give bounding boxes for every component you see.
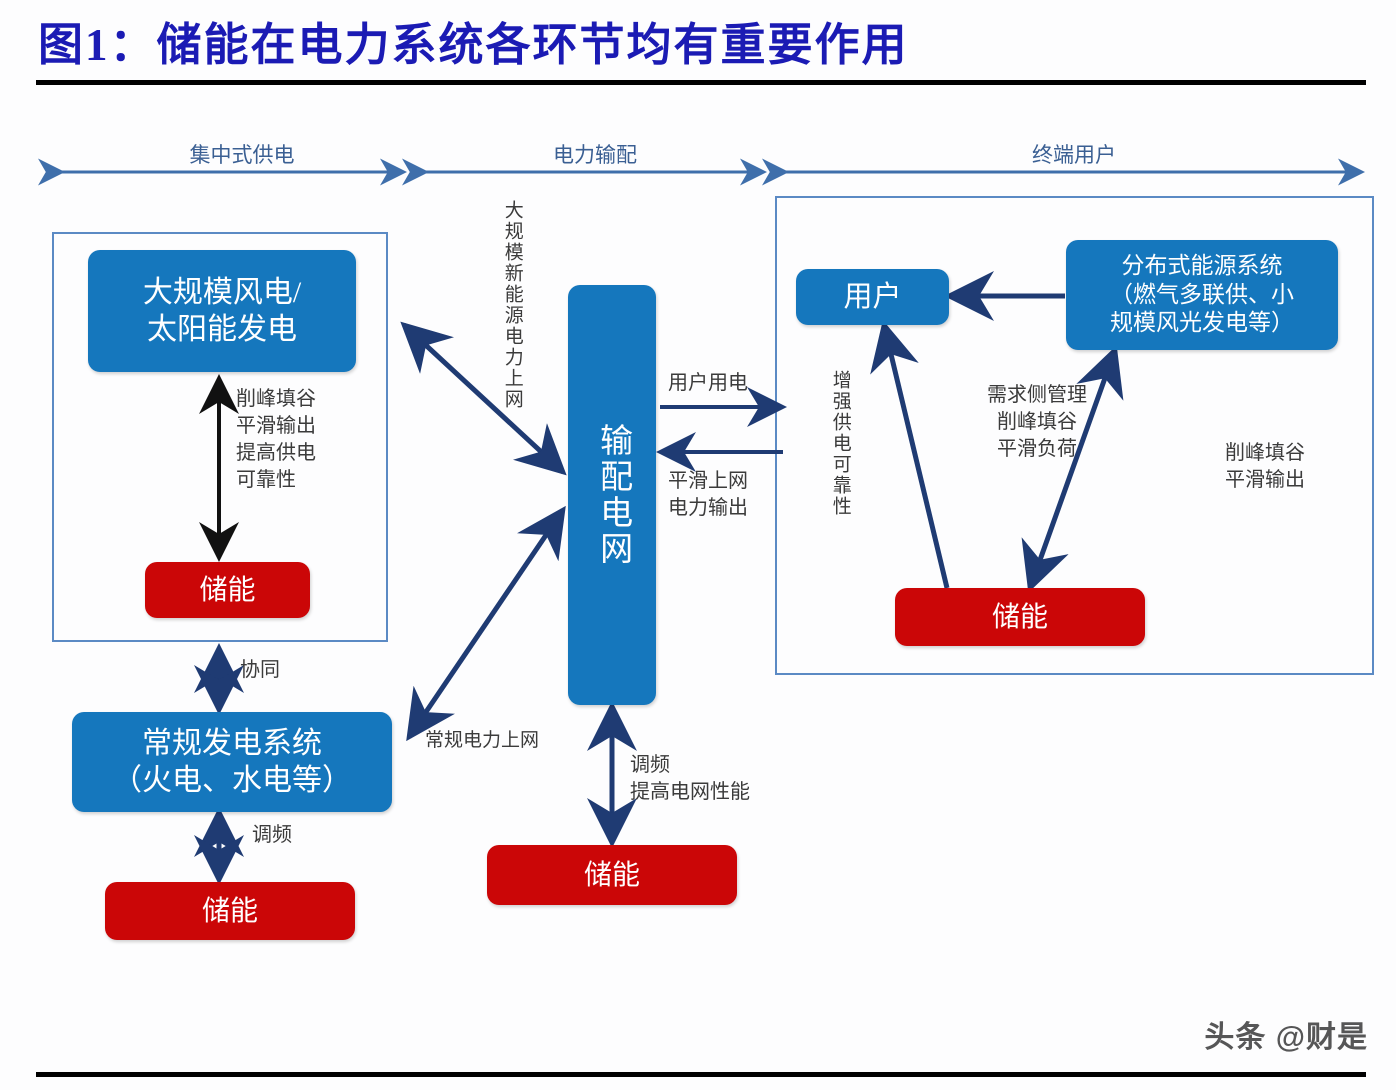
watermark-text: 头条 @财是 <box>1204 1012 1368 1056</box>
node-large-scale-renewable[interactable]: 大规模风电/ 太阳能发电 <box>88 250 356 372</box>
figure-canvas: 图1：储能在电力系统各环节均有重要作用 集中式供电 电力输配 终端用户 <box>0 0 1396 1090</box>
label-coordination: 协同 <box>240 657 330 684</box>
section-label-centralized: 集中式供电 <box>142 139 342 169</box>
label-frequency-regulation: 调频 <box>252 822 342 849</box>
label-conventional-to-grid: 常规电力上网 <box>425 728 605 754</box>
node-distributed-energy[interactable]: 分布式能源系统 （燃气多联供、小 规模风光发电等） <box>1066 240 1338 350</box>
node-conventional-generation[interactable]: 常规发电系统 （火电、水电等） <box>72 712 392 812</box>
label-renewable-storage: 削峰填谷 平滑输出 提高供电 可靠性 <box>236 386 366 494</box>
section-axis <box>0 0 1396 200</box>
node-storage-grid[interactable]: 储能 <box>487 845 737 905</box>
node-storage-user[interactable]: 储能 <box>895 588 1145 646</box>
node-user[interactable]: 用户 <box>796 269 949 325</box>
label-new-energy-to-grid: 大规模新能源电力上网 <box>500 200 523 445</box>
section-label-transmission: 电力输配 <box>495 139 695 169</box>
label-smooth-grid-output: 平滑上网 电力输出 <box>668 468 788 522</box>
node-storage-renewable[interactable]: 储能 <box>145 562 310 618</box>
label-grid-storage: 调频 提高电网性能 <box>630 752 820 806</box>
section-label-end-user: 终端用户 <box>974 139 1174 169</box>
node-storage-conventional[interactable]: 储能 <box>105 882 355 940</box>
label-demand-side-management: 需求侧管理 削峰填谷 平滑负荷 <box>952 382 1122 463</box>
label-peak-shaving: 削峰填谷 平滑输出 <box>1190 440 1340 494</box>
bottom-divider <box>36 1072 1366 1077</box>
label-supply-reliability: 增强供电可靠性 <box>828 370 851 590</box>
node-transmission-grid[interactable]: 输配电网 <box>568 285 656 705</box>
label-user-consumption: 用户用电 <box>668 370 788 397</box>
